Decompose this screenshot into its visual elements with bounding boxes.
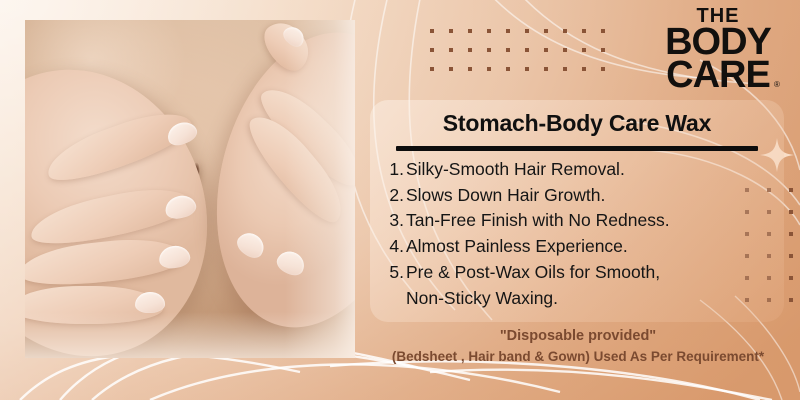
list-item: 5. Pre & Post-Wax Oils for Smooth, Non-S… xyxy=(384,260,776,311)
dot xyxy=(487,67,491,71)
list-item: 4. Almost Painless Experience. xyxy=(384,234,776,260)
dot-grid-top xyxy=(430,29,620,86)
dot xyxy=(449,67,453,71)
product-photo xyxy=(25,20,355,358)
list-item: 1. Silky-Smooth Hair Removal. xyxy=(384,157,776,183)
footer-line-2: (Bedsheet , Hair band & Gown) Used As Pe… xyxy=(356,349,800,364)
list-item: 2. Slows Down Hair Growth. xyxy=(384,183,776,209)
dot xyxy=(789,254,793,258)
dot-row xyxy=(430,67,620,86)
dot xyxy=(487,29,491,33)
dot xyxy=(582,29,586,33)
list-item-label-wrapper: Pre & Post-Wax Oils for Smooth, Non-Stic… xyxy=(406,260,776,311)
list-item-label: Slows Down Hair Growth. xyxy=(406,183,776,209)
content-card: Stomach-Body Care Wax 1. Silky-Smooth Ha… xyxy=(370,100,784,322)
list-item-number: 4. xyxy=(384,234,406,260)
dot xyxy=(506,29,510,33)
list-item-label: Almost Painless Experience. xyxy=(406,234,776,260)
dot xyxy=(544,48,548,52)
dot xyxy=(582,48,586,52)
page-title: Stomach-Body Care Wax xyxy=(370,110,784,137)
dot xyxy=(789,232,793,236)
list-item-label-continued: Non-Sticky Waxing. xyxy=(406,286,776,312)
dot xyxy=(525,67,529,71)
dot xyxy=(582,67,586,71)
brand-logo: THE BODY CARE® xyxy=(652,8,784,92)
list-item-number: 3. xyxy=(384,208,406,234)
dot xyxy=(449,29,453,33)
dot xyxy=(789,210,793,214)
benefits-list: 1. Silky-Smooth Hair Removal. 2. Slows D… xyxy=(384,157,776,311)
photo-right-fade xyxy=(285,20,355,358)
list-item-number: 2. xyxy=(384,183,406,209)
dot xyxy=(430,48,434,52)
title-divider xyxy=(396,146,758,151)
dot xyxy=(601,67,605,71)
list-item-number: 1. xyxy=(384,157,406,183)
dot xyxy=(525,29,529,33)
fingernail xyxy=(135,291,166,313)
dot xyxy=(563,67,567,71)
dot xyxy=(468,29,472,33)
list-item: 3. Tan-Free Finish with No Redness. xyxy=(384,208,776,234)
dot xyxy=(563,48,567,52)
dot xyxy=(789,188,793,192)
logo-line-care: CARE® xyxy=(666,59,770,92)
dot xyxy=(563,29,567,33)
dot xyxy=(506,48,510,52)
dot xyxy=(449,48,453,52)
dot-row xyxy=(430,48,620,67)
dot xyxy=(487,48,491,52)
dot xyxy=(468,67,472,71)
list-item-label: Silky-Smooth Hair Removal. xyxy=(406,157,776,183)
list-item-label: Tan-Free Finish with No Redness. xyxy=(406,208,776,234)
dot xyxy=(601,48,605,52)
dot xyxy=(601,29,605,33)
promo-banner: THE BODY CARE® Stomach-Body Care Wax xyxy=(0,0,800,400)
registered-mark-icon: ® xyxy=(774,81,779,88)
dot xyxy=(789,276,793,280)
dot xyxy=(525,48,529,52)
dot xyxy=(430,67,434,71)
dot xyxy=(544,67,548,71)
dot xyxy=(430,29,434,33)
footer-line-1: "Disposable provided" xyxy=(356,328,800,344)
dot xyxy=(506,67,510,71)
list-item-label: Pre & Post-Wax Oils for Smooth, xyxy=(406,260,776,286)
photo-bottom-fade xyxy=(25,312,355,358)
dot-row xyxy=(430,29,620,48)
list-item-number: 5. xyxy=(384,260,406,286)
dot xyxy=(468,48,472,52)
dot xyxy=(544,29,548,33)
dot xyxy=(789,298,793,302)
footer-note: "Disposable provided" (Bedsheet , Hair b… xyxy=(356,328,800,364)
